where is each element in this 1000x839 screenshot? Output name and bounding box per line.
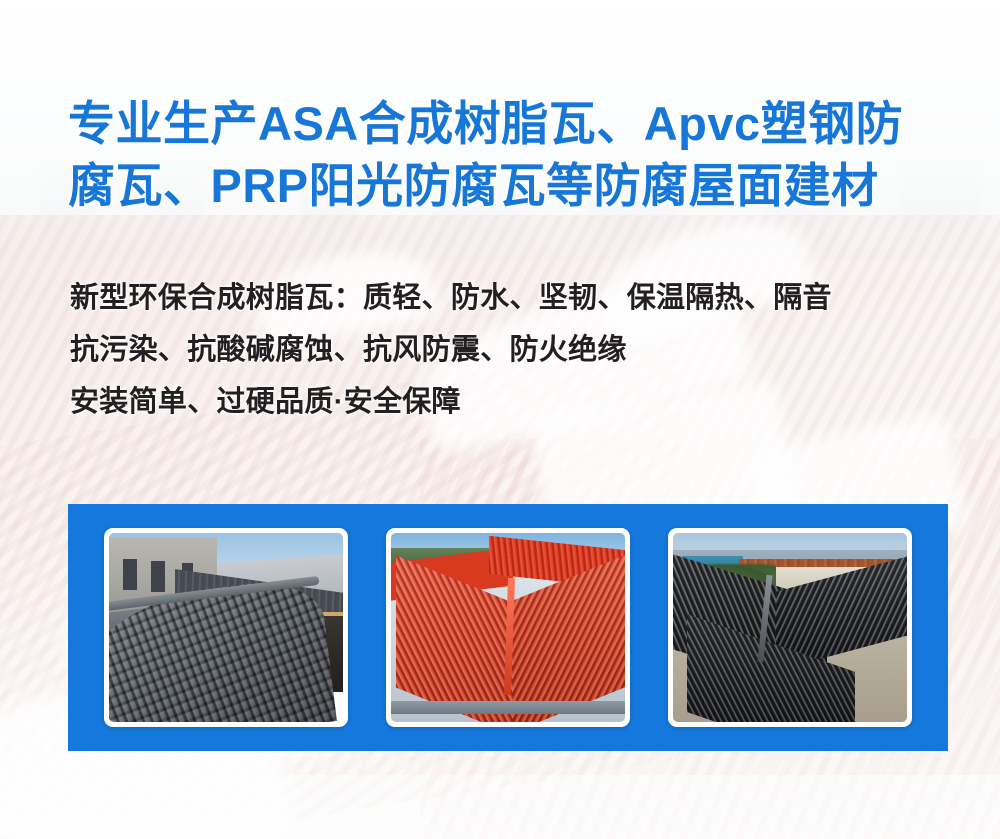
photo-1-image <box>109 533 343 722</box>
headline: 专业生产ASA合成树脂瓦、Apvc塑钢防 腐瓦、PRP阳光防腐瓦等防腐屋面建材 <box>68 93 948 217</box>
red-resin-tile-roof-photo[interactable] <box>386 528 630 727</box>
banner-content: 专业生产ASA合成树脂瓦、Apvc塑钢防 腐瓦、PRP阳光防腐瓦等防腐屋面建材 … <box>0 0 1000 839</box>
product-banner: 专业生产ASA合成树脂瓦、Apvc塑钢防 腐瓦、PRP阳光防腐瓦等防腐屋面建材 … <box>0 0 1000 839</box>
photo-gallery-panel <box>68 504 948 751</box>
subheadline-line-2: 抗污染、抗酸碱腐蚀、抗风防震、防火绝缘 <box>70 324 960 376</box>
subheadline-line-1: 新型环保合成树脂瓦：质轻、防水、坚韧、保温隔热、隔音 <box>70 272 960 324</box>
photo-2-gutter <box>391 701 625 714</box>
headline-line-2: 腐瓦、PRP阳光防腐瓦等防腐屋面建材 <box>68 155 948 217</box>
subheadline-line-3: 安装简单、过硬品质·安全保障 <box>70 376 960 428</box>
photo-2-image <box>391 533 625 722</box>
grey-resin-tile-roof-photo[interactable] <box>104 528 348 727</box>
photo-1-window <box>123 559 137 589</box>
photo-3-image <box>673 533 907 722</box>
subheadline: 新型环保合成树脂瓦：质轻、防水、坚韧、保温隔热、隔音 抗污染、抗酸碱腐蚀、抗风防… <box>70 272 960 428</box>
photo-1-window <box>151 561 165 591</box>
headline-line-1: 专业生产ASA合成树脂瓦、Apvc塑钢防 <box>68 93 948 155</box>
black-resin-tile-roof-photo[interactable] <box>668 528 912 727</box>
